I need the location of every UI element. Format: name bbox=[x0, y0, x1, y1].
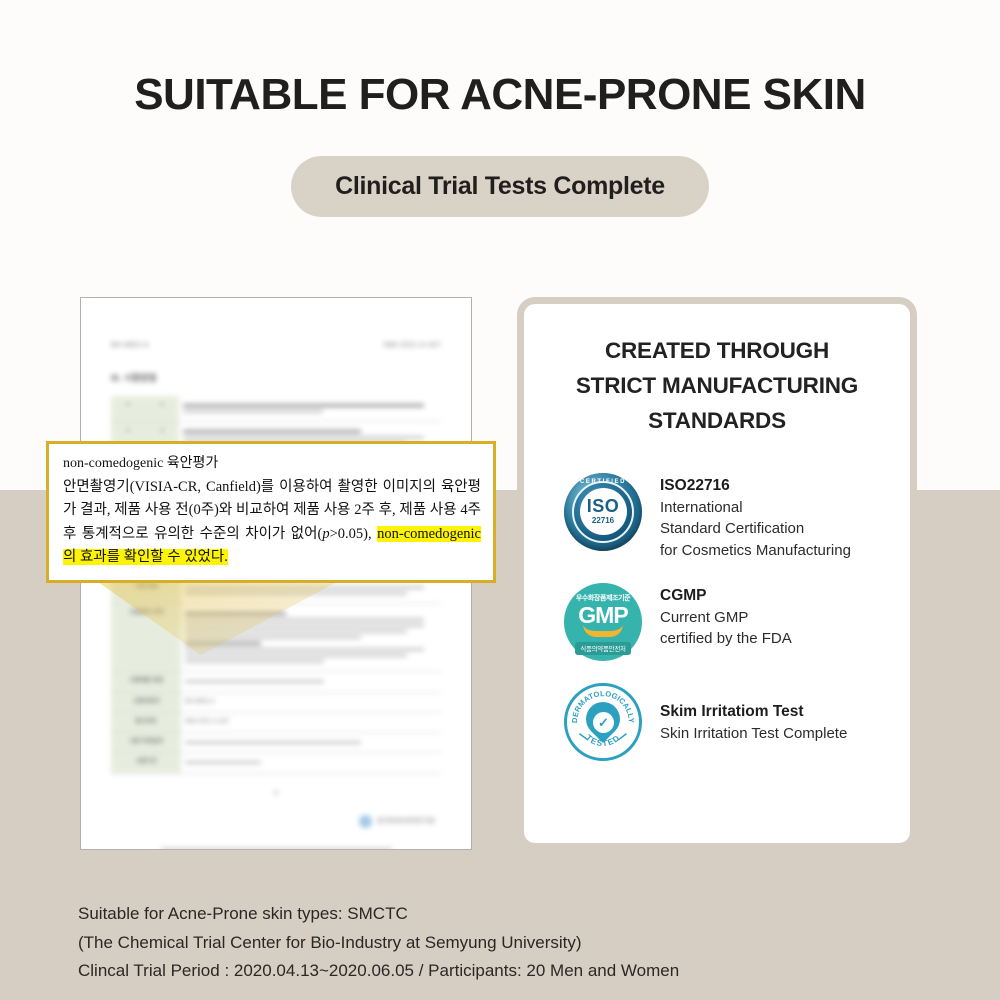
table-row: 접수번호 NMI-2021-A-447 bbox=[111, 712, 441, 732]
table-cell-body bbox=[181, 753, 441, 773]
seal-label: 한국피부과학연구원 bbox=[377, 816, 435, 826]
table-row: 시험 의뢰일자 bbox=[111, 733, 441, 753]
certification-title: Skim Irritatiom Test bbox=[660, 703, 847, 721]
certification-text-iso: ISO22716 International Standard Certific… bbox=[660, 473, 851, 561]
iso-badge-icon: ISO 22716 CERTIFIED bbox=[564, 473, 642, 551]
footer-caption: Suitable for Acne-Prone skin types: SMCT… bbox=[78, 900, 679, 986]
caption-line-2: (The Chemical Trial Center for Bio-Indus… bbox=[78, 929, 679, 958]
callout-stat-symbol: p bbox=[322, 526, 329, 542]
certification-item-iso: ISO 22716 CERTIFIED ISO22716 Internation… bbox=[564, 473, 886, 561]
table-cell-body bbox=[179, 396, 441, 422]
document-section-title: III. 시험방법 bbox=[111, 371, 441, 384]
table-cell-label: ● bbox=[111, 396, 145, 422]
callout-heading: non-comedogenic 육안평가 bbox=[63, 453, 481, 476]
certification-desc-line: Skin Irritation Test Complete bbox=[660, 723, 847, 744]
certification-item-cgmp: 우수화장품제조기준 GMP 식품의약품안전처 CGMP Current GMP … bbox=[564, 583, 886, 661]
callout-highlight-tail: 의 효과를 확인할 수 있었다. bbox=[63, 549, 228, 565]
document-seal-row: 한국피부과학연구원 bbox=[111, 815, 441, 828]
callout-box: non-comedogenic 육안평가 안면촬영기(VISIA-CR, Can… bbox=[46, 441, 496, 583]
table-cell-body bbox=[181, 672, 441, 692]
certification-text-cgmp: CGMP Current GMP certified by the FDA bbox=[660, 583, 792, 650]
table-cell-label: ● bbox=[145, 396, 179, 422]
document-header-right: NMI-2021-A-447 bbox=[384, 342, 441, 349]
certification-text-skin-irritation: Skim Irritatiom Test Skin Irritation Tes… bbox=[660, 699, 847, 744]
certification-desc-line: certified by the FDA bbox=[660, 628, 792, 649]
subtitle-pill-wrap: Clinical Trial Tests Complete bbox=[0, 156, 1000, 217]
iso-badge-certified-text: CERTIFIED bbox=[564, 479, 642, 485]
certification-item-skin-irritation: DERMATOLOGICALLY TESTED ✓ Skim Irritatio… bbox=[564, 683, 886, 761]
certification-panel: CREATED THROUGH STRICT MANUFACTURING STA… bbox=[517, 297, 917, 850]
header: SUITABLE FOR ACNE-PRONE SKIN Clinical Tr… bbox=[0, 0, 1000, 217]
table-row: 시험의뢰자 BH-MED-A bbox=[111, 692, 441, 712]
table-row: ● ● bbox=[111, 396, 441, 422]
certification-desc-line: Current GMP bbox=[660, 607, 792, 628]
document-table-main: 시험 대상자 시험 방법 시험결과 요약 시험제품 명칭 bbox=[111, 558, 441, 774]
page-title: SUITABLE FOR ACNE-PRONE SKIN bbox=[0, 70, 1000, 120]
table-cell-body: NMI-2021-A-447 bbox=[181, 712, 441, 732]
table-row: 시험기간 bbox=[111, 753, 441, 773]
certification-heading-line2: STRICT MANUFACTURING bbox=[548, 369, 886, 404]
table-row: 시험제품 명칭 bbox=[111, 672, 441, 692]
table-cell-label: 시험기간 bbox=[111, 753, 181, 773]
document-header-left: BH-MED-A bbox=[111, 342, 149, 349]
table-cell-label: 시험 의뢰일자 bbox=[111, 733, 181, 753]
certification-title: ISO22716 bbox=[660, 477, 851, 495]
gmp-smile-icon bbox=[583, 624, 623, 637]
certification-heading-line3: STANDARDS bbox=[548, 404, 886, 439]
caption-line-1: Suitable for Acne-Prone skin types: SMCT… bbox=[78, 900, 679, 929]
clinical-trial-pill: Clinical Trial Tests Complete bbox=[291, 156, 709, 217]
certification-heading: CREATED THROUGH STRICT MANUFACTURING STA… bbox=[548, 334, 886, 439]
document-page-number: 4 bbox=[111, 790, 441, 797]
table-cell-label: 시험제품 명칭 bbox=[111, 672, 181, 692]
document-header-row: BH-MED-A NMI-2021-A-447 bbox=[111, 342, 441, 349]
table-cell-label: 접수번호 bbox=[111, 712, 181, 732]
table-cell-body bbox=[181, 733, 441, 753]
table-cell-label: 시험결과 요약 bbox=[111, 604, 181, 672]
iso-badge-word: ISO bbox=[587, 498, 620, 515]
certification-heading-line1: CREATED THROUGH bbox=[548, 334, 886, 369]
certification-desc-line: International bbox=[660, 497, 851, 518]
iso-badge-number: 22716 bbox=[592, 516, 614, 525]
seal-icon bbox=[359, 815, 372, 828]
gmp-badge-icon: 우수화장품제조기준 GMP 식품의약품안전처 bbox=[564, 583, 642, 661]
caption-line-3: Clincal Trial Period : 2020.04.13~2020.0… bbox=[78, 957, 679, 986]
callout-stat-rest: >0.05), bbox=[330, 526, 378, 542]
callout-body: 안면촬영기(VISIA-CR, Canfield)를 이용하여 촬영한 이미지의… bbox=[63, 476, 481, 570]
certification-desc-line: Standard Certification bbox=[660, 518, 851, 539]
table-cell-body: BH-MED-A bbox=[181, 692, 441, 712]
table-row: 시험결과 요약 bbox=[111, 604, 441, 672]
gmp-badge-bottom-text: 식품의약품안전처 bbox=[575, 642, 630, 655]
certification-desc-line: for Cosmetics Manufacturing bbox=[660, 540, 851, 561]
callout-highlight-term: non-comedogenic bbox=[377, 526, 481, 542]
certification-list: ISO 22716 CERTIFIED ISO22716 Internation… bbox=[548, 473, 886, 761]
dermatologically-tested-badge-icon: DERMATOLOGICALLY TESTED ✓ bbox=[564, 683, 642, 761]
table-cell-body bbox=[181, 604, 441, 672]
table-cell-label: 시험의뢰자 bbox=[111, 692, 181, 712]
certification-title: CGMP bbox=[660, 587, 792, 605]
water-drop-icon: ✓ bbox=[586, 702, 620, 742]
document-footer-note bbox=[111, 848, 441, 850]
check-icon: ✓ bbox=[593, 712, 614, 733]
